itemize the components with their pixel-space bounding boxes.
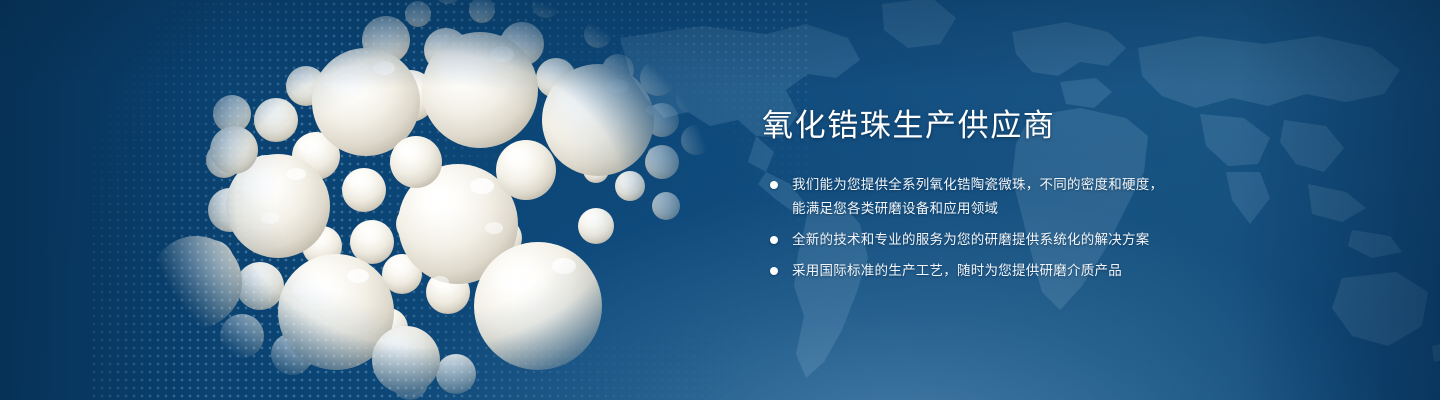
list-item: 我们能为您提供全系列氧化锆陶瓷微珠，不同的密度和硬度， 能满足您各类研磨设备和应… [762, 173, 1362, 221]
bullet-circle-icon [770, 267, 778, 275]
list-item-line: 我们能为您提供全系列氧化锆陶瓷微珠，不同的密度和硬度， [792, 173, 1362, 197]
list-item-line: 全新的技术和专业的服务为您的研磨提供系统化的解决方案 [792, 228, 1362, 252]
feature-list: 我们能为您提供全系列氧化锆陶瓷微珠，不同的密度和硬度， 能满足您各类研磨设备和应… [762, 173, 1362, 283]
list-item: 全新的技术和专业的服务为您的研磨提供系统化的解决方案 [762, 228, 1362, 252]
bullet-circle-icon [770, 181, 778, 189]
bullet-circle-icon [770, 236, 778, 244]
page-title: 氧化锆珠生产供应商 [762, 106, 1362, 146]
list-item-line: 采用国际标准的生产工艺，随时为您提供研磨介质产品 [792, 259, 1362, 283]
promo-banner: 氧化锆珠生产供应商 我们能为您提供全系列氧化锆陶瓷微珠，不同的密度和硬度， 能满… [0, 0, 1440, 400]
list-item-line: 能满足您各类研磨设备和应用领域 [792, 197, 1362, 221]
list-item: 采用国际标准的生产工艺，随时为您提供研磨介质产品 [762, 259, 1362, 283]
zirconia-beads-photo [110, 0, 750, 400]
banner-copy: 氧化锆珠生产供应商 我们能为您提供全系列氧化锆陶瓷微珠，不同的密度和硬度， 能满… [762, 106, 1362, 283]
